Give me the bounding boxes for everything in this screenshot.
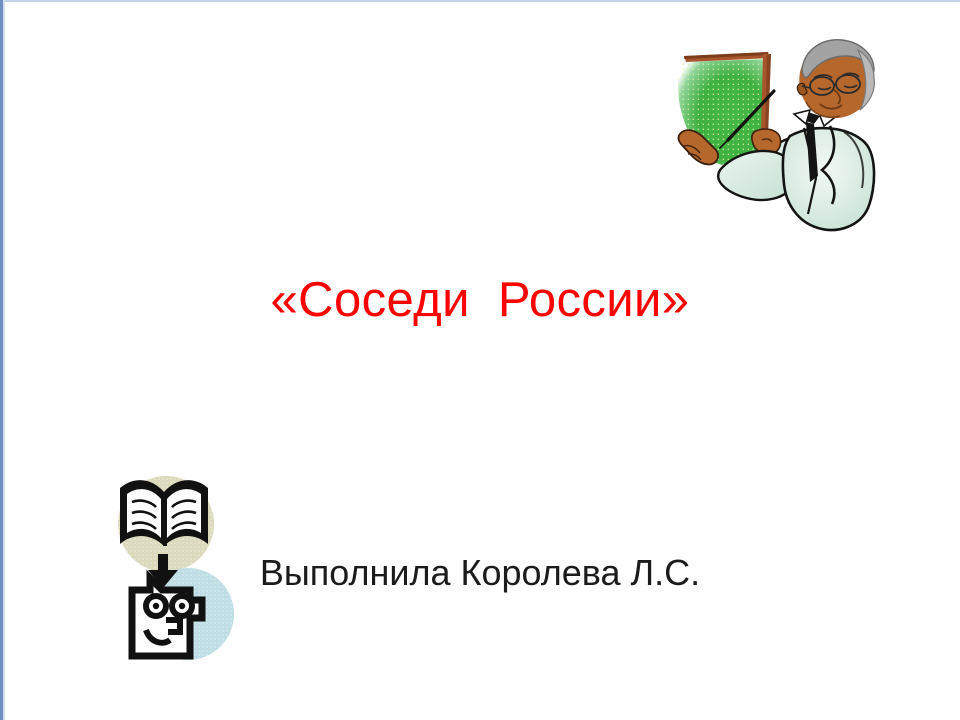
teacher-at-chalkboard-clipart [662, 28, 894, 240]
presentation-slide: «Соседи России» Выполнила Королева Л.С. … [0, 0, 960, 720]
subtitle-line-author: Выполнила Королева Л.С. [0, 542, 960, 604]
teacher-head [797, 40, 874, 118]
slide-subtitle: Выполнила Королева Л.С. Проверила Якимов… [0, 418, 960, 720]
slide-title: «Соседи России» [0, 272, 960, 328]
slide-top-border [0, 0, 960, 2]
lab-coat [783, 126, 874, 230]
